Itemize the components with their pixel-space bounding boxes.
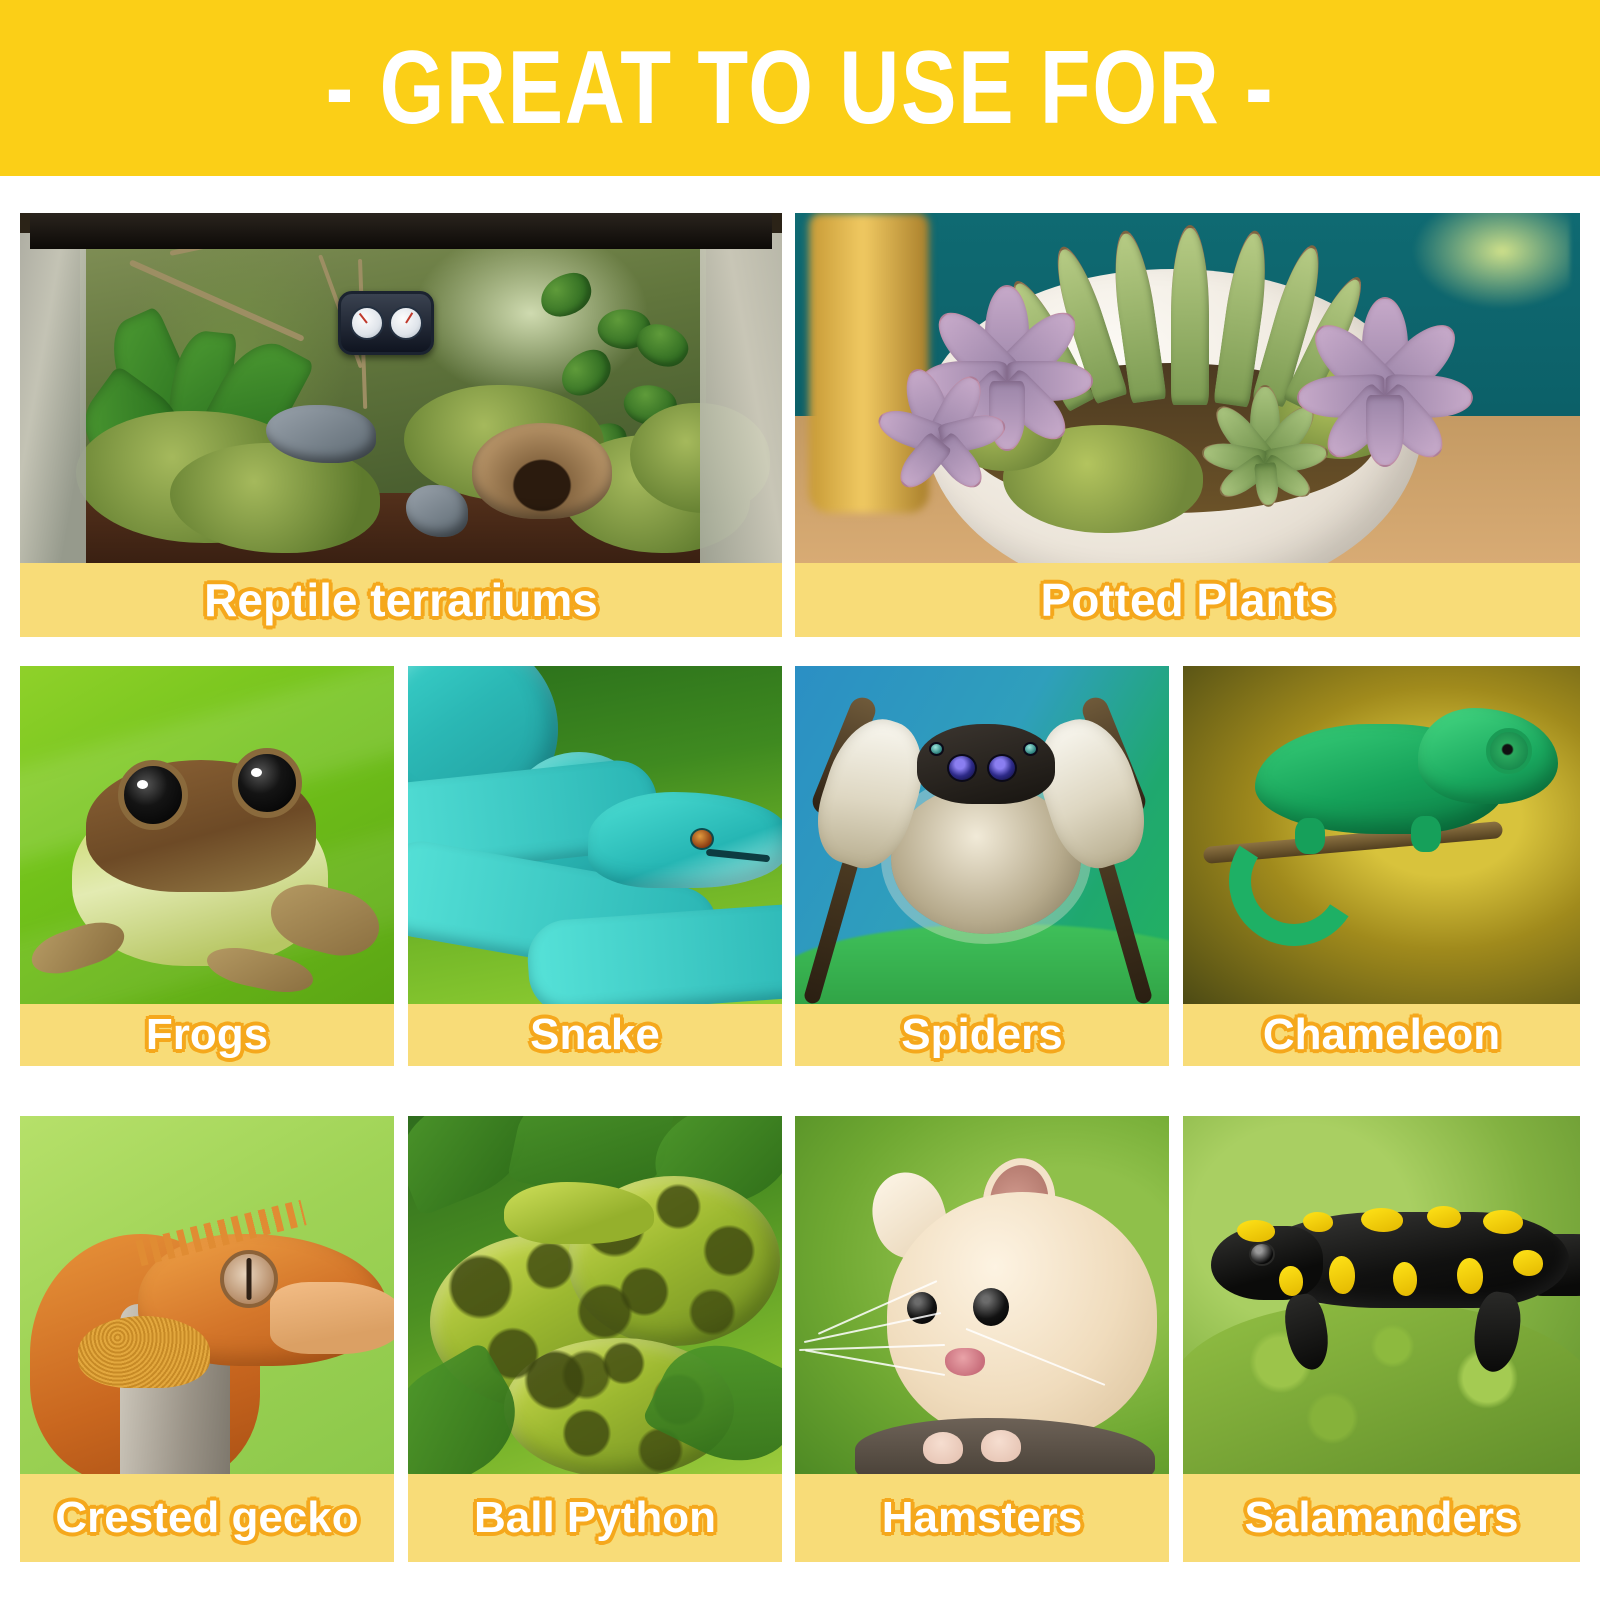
- salamander-spot: [1393, 1262, 1417, 1296]
- caption-label: Potted Plants: [1041, 577, 1335, 623]
- humidity-dial: [389, 306, 423, 340]
- caption-label: Frogs: [146, 1013, 268, 1057]
- terrarium-log-hide: [472, 423, 612, 519]
- moss-mound: [1183, 1302, 1580, 1474]
- grid-cell-frogs[interactable]: Frogs: [20, 666, 394, 1066]
- caption-label: Chameleon: [1263, 1013, 1500, 1057]
- background-trailing-plant: [1400, 213, 1570, 317]
- thermometer-hygrometer-gauge: [338, 291, 434, 355]
- frog-eye: [118, 760, 188, 830]
- caption-chameleon: Chameleon: [1183, 1004, 1580, 1066]
- grid-cell-potted-plants[interactable]: Potted Plants: [795, 213, 1580, 637]
- terrarium-glass-left: [20, 233, 86, 563]
- salamander-spot: [1457, 1258, 1483, 1294]
- chameleon-foot: [1295, 818, 1325, 854]
- hamster-paw: [923, 1432, 963, 1464]
- photo-hamster: [795, 1116, 1169, 1474]
- caption-label: Salamanders: [1245, 1496, 1519, 1540]
- salamander-spot: [1427, 1206, 1461, 1228]
- gecko-snout: [270, 1282, 394, 1354]
- caption-potted-plants: Potted Plants: [795, 563, 1580, 637]
- caption-label: Reptile terrariums: [204, 577, 598, 623]
- frog-eye: [232, 748, 302, 818]
- caption-label: Snake: [530, 1013, 660, 1057]
- snake-eye: [690, 828, 714, 850]
- caption-label: Ball Python: [474, 1496, 716, 1540]
- grid-cell-hamsters[interactable]: Hamsters: [795, 1116, 1169, 1562]
- caption-spiders: Spiders: [795, 1004, 1169, 1066]
- page-title: - GREAT TO USE FOR -: [326, 36, 1275, 140]
- spider-primary-eye: [987, 754, 1017, 782]
- grid-cell-crested-gecko[interactable]: Crested gecko: [20, 1116, 394, 1562]
- chameleon-foot: [1411, 816, 1441, 852]
- grid-cell-ball-python[interactable]: Ball Python: [408, 1116, 782, 1562]
- gecko-front-foot: [78, 1316, 210, 1388]
- salamander-spot: [1279, 1266, 1303, 1296]
- photo-potted-plants: [795, 213, 1580, 563]
- salamander-spot: [1303, 1212, 1333, 1232]
- spider-secondary-eye: [929, 742, 944, 756]
- terrarium-glass-right: [700, 233, 782, 563]
- temperature-dial: [350, 306, 384, 340]
- spider-primary-eye: [947, 754, 977, 782]
- photo-snake: [408, 666, 782, 1004]
- spider-secondary-eye: [1023, 742, 1038, 756]
- header-banner: - GREAT TO USE FOR -: [0, 0, 1600, 176]
- photo-ball-python: [408, 1116, 782, 1474]
- caption-reptile-terrariums: Reptile terrariums: [20, 563, 782, 637]
- grid-cell-chameleon[interactable]: Chameleon: [1183, 666, 1580, 1066]
- grid-cell-salamanders[interactable]: Salamanders: [1183, 1116, 1580, 1562]
- photo-spider: [795, 666, 1169, 1004]
- caption-snake: Snake: [408, 1004, 782, 1066]
- leaf-foreground: [795, 924, 1169, 1004]
- photo-frog: [20, 666, 394, 1004]
- chameleon-eye: [1486, 728, 1532, 774]
- succulent-agave-leaf: [1171, 225, 1209, 405]
- salamander-spot: [1483, 1210, 1523, 1234]
- salamander-spot: [1237, 1220, 1275, 1242]
- hamster-nose: [945, 1348, 985, 1376]
- hamster-eye: [973, 1288, 1009, 1326]
- caption-label: Crested gecko: [55, 1496, 358, 1540]
- caption-ball-python: Ball Python: [408, 1474, 782, 1562]
- terrarium-top-frame: [30, 213, 772, 249]
- caption-label: Spiders: [901, 1013, 1062, 1057]
- caption-frogs: Frogs: [20, 1004, 394, 1066]
- photo-chameleon: [1183, 666, 1580, 1004]
- snake-mouth: [706, 849, 770, 863]
- hamster-paw: [981, 1430, 1021, 1462]
- salamander-spot: [1513, 1250, 1543, 1276]
- caption-label: Hamsters: [882, 1496, 1083, 1540]
- caption-salamanders: Salamanders: [1183, 1474, 1580, 1562]
- spider-head: [917, 724, 1055, 804]
- grid-cell-snake[interactable]: Snake: [408, 666, 782, 1066]
- salamander-spot: [1361, 1208, 1403, 1232]
- caption-hamsters: Hamsters: [795, 1474, 1169, 1562]
- salamander-spot: [1329, 1256, 1355, 1294]
- grid-cell-spiders[interactable]: Spiders: [795, 666, 1169, 1066]
- gecko-eye: [220, 1250, 278, 1308]
- caption-crested-gecko: Crested gecko: [20, 1474, 394, 1562]
- snake-head: [588, 792, 782, 888]
- chameleon-head: [1418, 708, 1558, 804]
- photo-reptile-terrarium: [20, 213, 782, 563]
- photo-crested-gecko: [20, 1116, 394, 1474]
- salamander-eye: [1249, 1242, 1275, 1266]
- grid-cell-reptile-terrariums[interactable]: Reptile terrariums: [20, 213, 782, 637]
- photo-salamander: [1183, 1116, 1580, 1474]
